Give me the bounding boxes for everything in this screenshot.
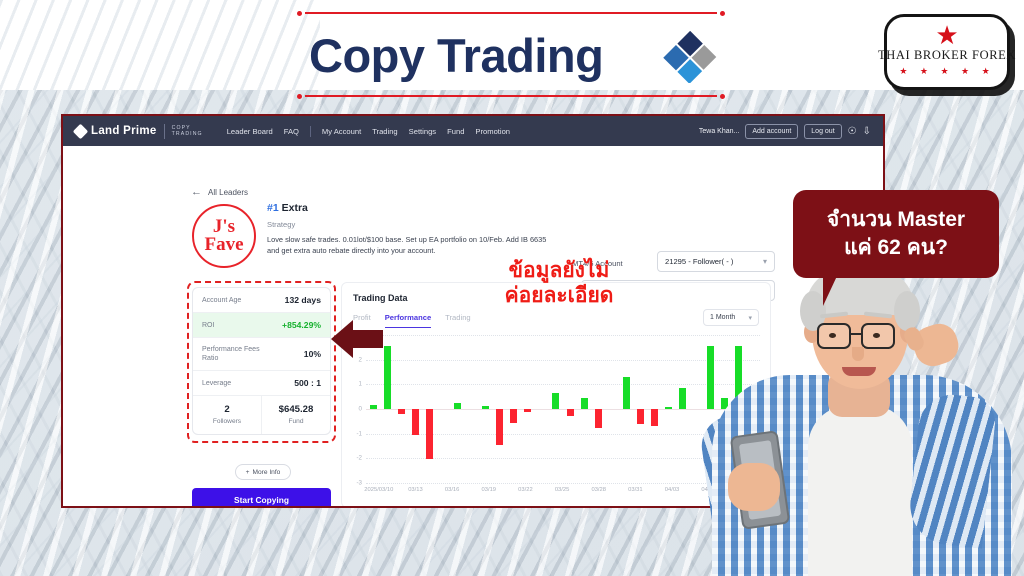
banner-dot	[297, 11, 302, 16]
avatar-line-2: Fave	[204, 236, 243, 254]
mouth	[842, 367, 876, 376]
land-prime-diamond-icon	[73, 123, 89, 139]
nose	[852, 347, 864, 361]
chart-title: Trading Data	[353, 293, 408, 303]
nav-item-trading[interactable]: Trading	[372, 127, 397, 136]
app-navbar: Land Prime COPY TRADING Leader Board FAQ…	[63, 116, 883, 146]
chart-bar	[679, 388, 686, 409]
nav-item-faq[interactable]: FAQ	[284, 127, 299, 136]
chart-bar	[496, 409, 503, 445]
page-title: Copy Trading	[309, 28, 669, 84]
stat-fund: $645.28 Fund	[261, 396, 330, 434]
annotation-red-note: ข้อมูลยังไม่ ค่อยละเอียด	[476, 258, 642, 308]
star-icon: ★	[935, 25, 958, 45]
chart-bar	[426, 409, 433, 459]
chart-x-tick-label: 2025/03/10	[364, 487, 393, 493]
chart-bar	[510, 409, 517, 423]
stat-key: Account Age	[202, 296, 241, 305]
stat-value: +854.29%	[282, 320, 321, 330]
chart-x-tick-label: 04/03	[665, 487, 680, 493]
strategy-text: Love slow safe trades. 0.01lot/$100 base…	[267, 234, 555, 256]
banner: Copy Trading	[297, 12, 725, 104]
chart-bar	[370, 405, 377, 409]
badge-name: THAI BROKER FOREX	[878, 48, 1016, 63]
chart-bar	[623, 377, 630, 409]
banner-dot	[720, 94, 725, 99]
right-arm	[906, 391, 997, 548]
leader-rank-name: #1 Extra	[267, 202, 308, 214]
chart-bar	[651, 409, 658, 426]
annotation-line-1: ข้อมูลยังไม่	[476, 258, 642, 283]
badge-mini-stars: ★ ★ ★ ★ ★	[899, 66, 994, 77]
brand-divider	[164, 124, 165, 139]
person-photo	[700, 255, 1024, 576]
chart-y-tick-label: -2	[356, 455, 362, 462]
stats-footer: 2 Followers $645.28 Fund	[193, 396, 330, 434]
thai-broker-forex-badge: ★ THAI BROKER FOREX ★ ★ ★ ★ ★	[884, 14, 1010, 90]
stat-label: Fund	[262, 418, 330, 425]
hair-side-right	[894, 291, 920, 331]
back-label: All Leaders	[208, 188, 248, 197]
chart-y-tick-label: -1	[356, 430, 362, 437]
annotation-line-2: ค่อยละเอียด	[476, 283, 642, 308]
nav-item-leader-board[interactable]: Leader Board	[227, 127, 273, 136]
chart-bar	[398, 409, 405, 414]
banner-rule-top	[305, 12, 717, 14]
stats-panel: Account Age 132 days ROI +854.29% Perfor…	[192, 287, 331, 435]
bubble-line-1: จำนวน Master	[827, 206, 965, 234]
chart-x-tick-label: 03/31	[628, 487, 643, 493]
bubble-line-2: แค่ 62 คน?	[844, 234, 948, 262]
stat-value: 10%	[304, 349, 321, 359]
stat-row-performance-fees-ratio: Performance Fees Ratio 10%	[193, 338, 330, 371]
chart-bar	[665, 407, 672, 409]
add-account-button[interactable]: Add account	[745, 124, 798, 139]
stat-value: $645.28	[262, 404, 330, 415]
stat-value: 500 : 1	[294, 378, 321, 388]
speech-bubble: จำนวน Master แค่ 62 คน?	[793, 190, 999, 278]
stat-value: 132 days	[285, 295, 321, 305]
stat-key: Leverage	[202, 379, 231, 388]
stats-card: Account Age 132 days ROI +854.29% Perfor…	[192, 287, 331, 435]
stat-row-roi: ROI +854.29%	[193, 313, 330, 338]
diamond-logo-icon	[659, 31, 717, 83]
chart-x-tick-label: 03/13	[408, 487, 423, 493]
nav-item-fund[interactable]: Fund	[447, 127, 464, 136]
nav-item-promotion[interactable]: Promotion	[475, 127, 510, 136]
chart-x-tick-label: 03/19	[482, 487, 497, 493]
brand-subtitle: COPY TRADING	[172, 125, 203, 138]
stat-key: Performance Fees Ratio	[202, 345, 264, 363]
chart-y-tick-label: -3	[356, 480, 362, 487]
chart-bar	[552, 393, 559, 409]
log-out-button[interactable]: Log out	[804, 124, 841, 139]
chart-bar	[454, 403, 461, 409]
chart-bar	[567, 409, 574, 416]
stat-key: ROI	[202, 321, 214, 330]
left-eye	[829, 333, 836, 338]
screenshot-stage: Copy Trading ★ THAI BROKER FOREX ★ ★ ★ ★…	[0, 0, 1024, 576]
speech-bubble-tail	[823, 276, 853, 306]
nav-item-my-account[interactable]: My Account	[322, 127, 361, 136]
tab-performance[interactable]: Performance	[385, 313, 431, 328]
nav-right-group: Tewa Khan... Add account Log out ☉ ⇩	[699, 124, 875, 139]
download-icon[interactable]: ⇩	[863, 126, 871, 137]
plus-icon: +	[246, 469, 250, 476]
stat-row-leverage: Leverage 500 : 1	[193, 371, 330, 396]
chart-bar	[524, 409, 531, 412]
right-eye	[873, 333, 880, 338]
brand-name: Land Prime	[91, 125, 157, 137]
tab-trading[interactable]: Trading	[445, 313, 470, 328]
avatar: J's Fave	[192, 204, 256, 268]
chart-x-tick-label: 03/28	[591, 487, 606, 493]
chart-y-tick-label: 1	[359, 381, 362, 388]
stat-row-account-age: Account Age 132 days	[193, 288, 330, 313]
chart-bar	[482, 406, 489, 409]
chart-x-tick-label: 03/25	[555, 487, 570, 493]
chart-x-tick-label: 03/16	[445, 487, 460, 493]
nav-divider	[310, 126, 311, 137]
back-to-all-leaders[interactable]: ← All Leaders	[191, 186, 248, 198]
banner-dot	[297, 94, 302, 99]
chart-bar	[637, 409, 644, 424]
brand[interactable]: Land Prime	[75, 125, 157, 137]
glasses-bridge	[851, 333, 861, 335]
stat-followers: 2 Followers	[193, 396, 261, 434]
arrow-left-icon: ←	[191, 186, 202, 198]
user-name[interactable]: Tewa Khan...	[699, 128, 739, 135]
leader-rank: #1	[267, 202, 279, 214]
chart-bar	[595, 409, 602, 428]
more-info-label: More Info	[253, 469, 281, 476]
leader-name: Extra	[282, 202, 308, 214]
chart-bar	[384, 346, 391, 409]
stat-value: 2	[193, 404, 261, 415]
left-hand	[728, 463, 780, 511]
globe-icon[interactable]: ☉	[848, 126, 857, 137]
chart-bar	[412, 409, 419, 435]
chart-x-tick-label: 03/22	[518, 487, 533, 493]
white-tshirt	[808, 405, 912, 576]
arrow-left-icon	[331, 318, 383, 365]
chart-y-tick-label: 0	[359, 406, 362, 413]
nav-item-settings[interactable]: Settings	[409, 127, 436, 136]
more-info-button[interactable]: + More Info	[235, 464, 291, 480]
chart-bar	[581, 398, 588, 409]
banner-rule-bottom	[305, 95, 717, 97]
strategy-label: Strategy	[267, 220, 295, 229]
stat-label: Followers	[193, 418, 261, 425]
nav-links: Leader Board FAQ My Account Trading Sett…	[227, 126, 510, 137]
banner-dot	[720, 11, 725, 16]
start-copying-button[interactable]: Start Copying	[192, 488, 331, 508]
